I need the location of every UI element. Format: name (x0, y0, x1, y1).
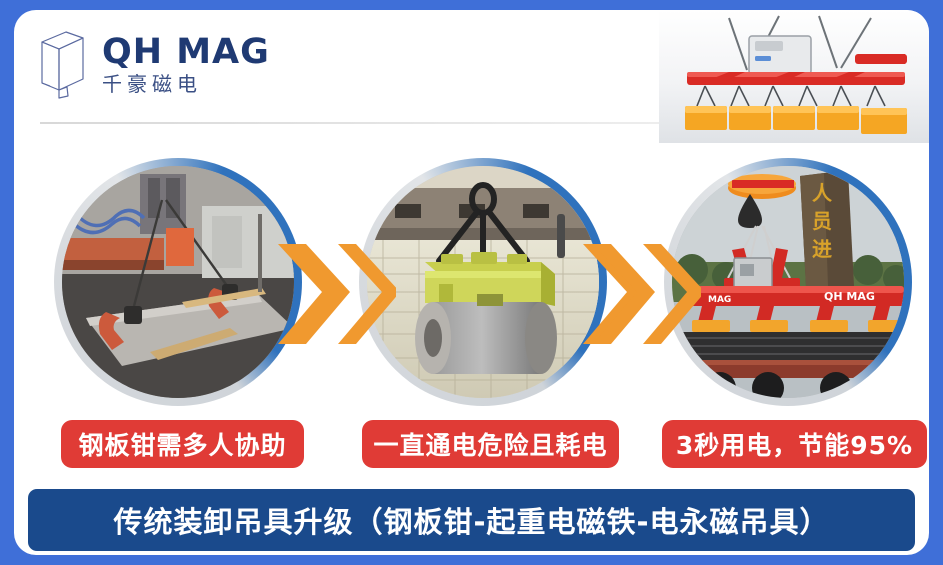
double-chevron-right-icon (581, 240, 701, 348)
steel-plate-clamp-workshop-photo (62, 166, 294, 398)
svg-text:MAG: MAG (708, 295, 731, 305)
wireframe-cuboid-icon (36, 26, 88, 102)
svg-text:员: 员 (812, 209, 832, 233)
svg-text:QH MAG: QH MAG (824, 290, 875, 303)
step-caption-1: 钢板钳需多人协助 (61, 420, 304, 468)
poster-root: QH MAG 千豪磁电 (0, 0, 943, 565)
hero-magnetic-beam-photo (659, 10, 929, 143)
bottom-banner: 传统装卸吊具升级（钢板钳-起重电磁铁-电永磁吊具） (28, 489, 915, 551)
step-circle-1 (54, 158, 302, 406)
step-circle-3: 人 员 进 (664, 158, 912, 406)
double-chevron-right-icon (276, 240, 396, 348)
brand-chinese-name: 千豪磁电 (102, 74, 270, 94)
step-ring-3: 人 员 进 (664, 158, 912, 406)
svg-text:人: 人 (812, 181, 833, 205)
step-caption-2: 一直通电危险且耗电 (362, 420, 619, 468)
step-circle-2 (359, 158, 607, 406)
step-ring-1 (54, 158, 302, 406)
electro-lifting-magnet-coil-photo (367, 166, 599, 398)
header-divider (40, 122, 660, 124)
header: QH MAG 千豪磁电 (14, 10, 929, 138)
brand-wordmark: QH MAG (102, 35, 270, 70)
steps-row: 人 员 进 (14, 158, 929, 414)
step-caption-3: 3秒用电，节能95% (662, 420, 927, 468)
step-ring-2 (359, 158, 607, 406)
svg-text:进: 进 (812, 237, 832, 261)
qhmag-permanent-magnet-lifter-truck-photo: 人 员 进 (672, 166, 904, 398)
content-card: QH MAG 千豪磁电 (14, 10, 929, 555)
brand-logo: QH MAG 千豪磁电 (36, 26, 270, 102)
